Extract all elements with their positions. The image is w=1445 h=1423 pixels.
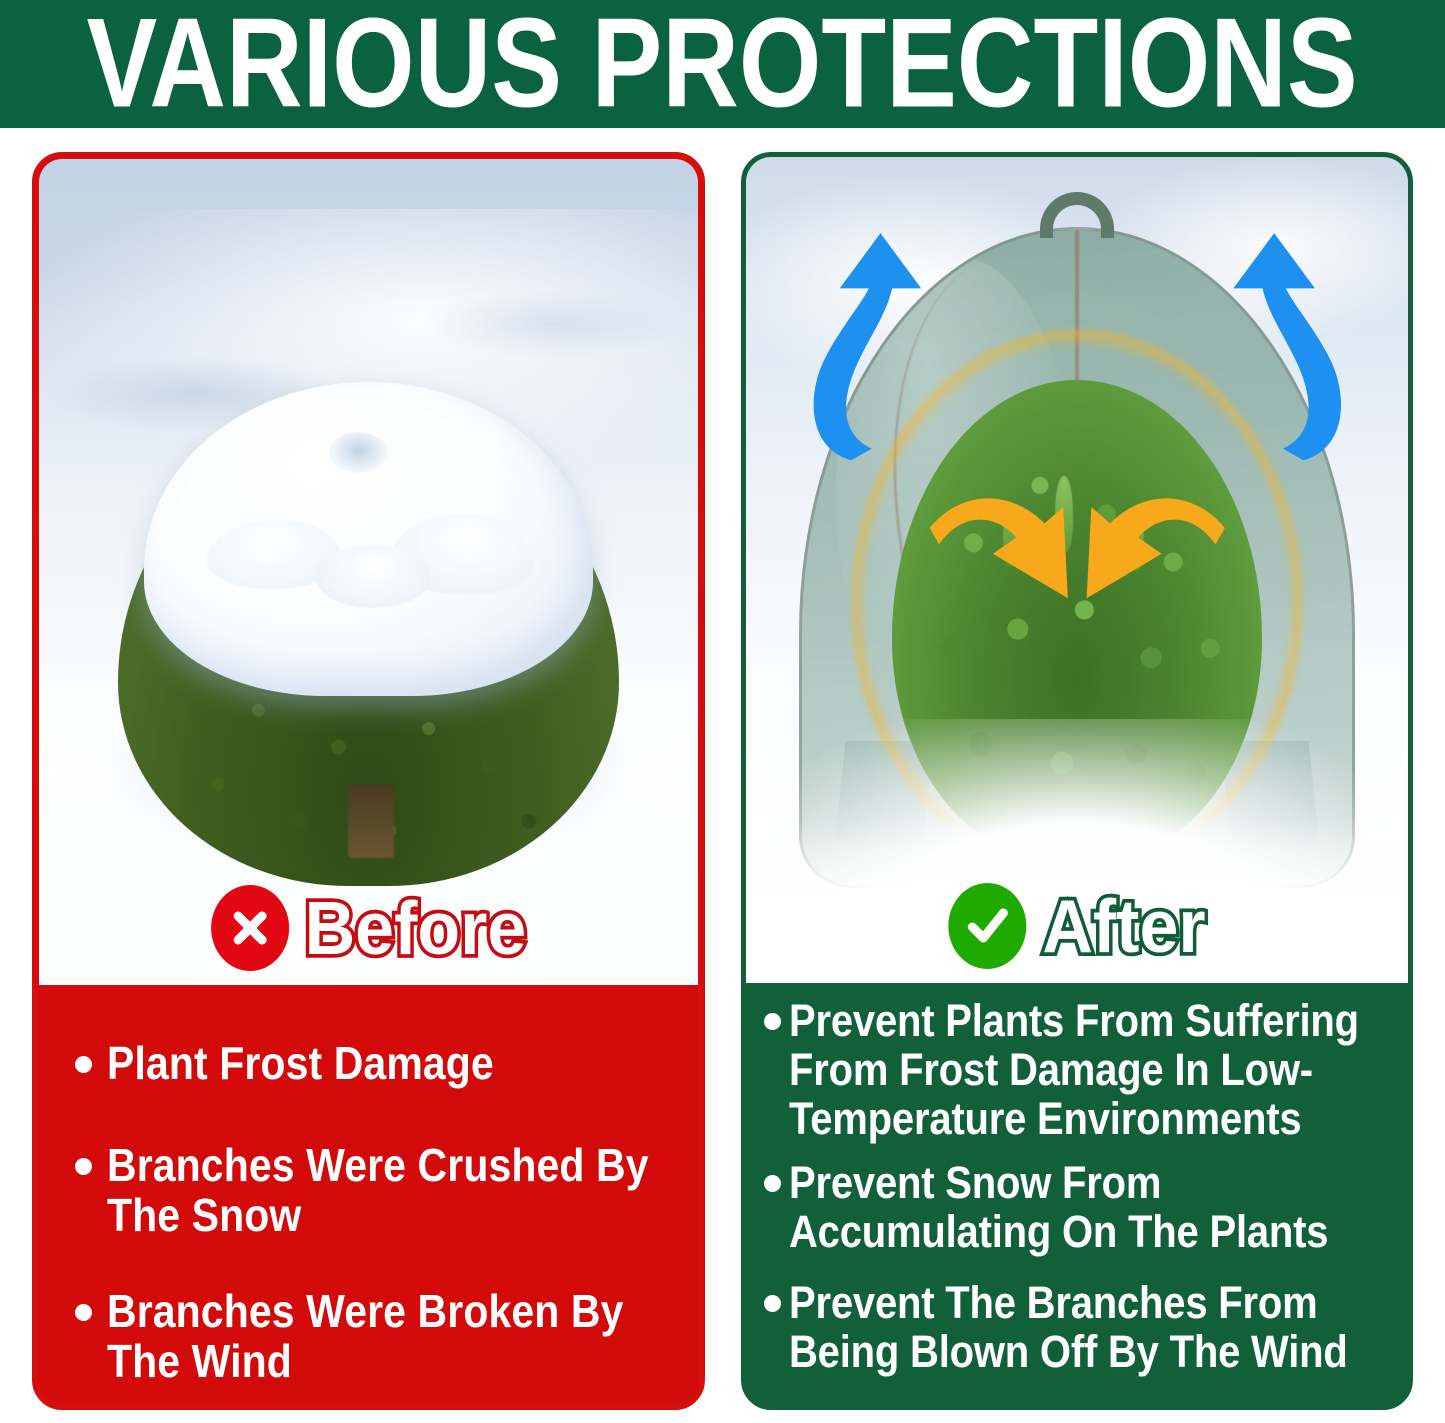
shrub-sprig (1055, 476, 1074, 553)
before-badge-label: Before (305, 890, 527, 966)
cross-circle-icon (211, 885, 289, 971)
list-item-label: Prevent The Branches From Being Blown Of… (789, 1279, 1394, 1377)
bullet-dot-icon (75, 1158, 92, 1175)
after-bullet-list: Prevent Plants From Suffering From Frost… (746, 983, 1408, 1410)
before-bullet-list: Plant Frost Damage Branches Were Crushed… (39, 985, 698, 1374)
bullet-dot-icon (75, 1304, 92, 1321)
after-photo: After (746, 157, 1408, 983)
list-item-label: Prevent Snow From Accumulating On The Pl… (789, 1159, 1394, 1257)
after-badge-label: After (1042, 888, 1205, 964)
list-item-label: Prevent Plants From Suffering From Frost… (789, 997, 1394, 1143)
list-item: Prevent Plants From Suffering From Frost… (764, 997, 1394, 1125)
bullet-dot-icon (764, 1013, 781, 1030)
bush-trunk (348, 784, 393, 858)
snow-background (39, 159, 698, 985)
infographic-page: VARIOUS PROTECTIONS (0, 0, 1445, 1423)
before-photo: Before (39, 159, 698, 985)
bullet-dot-icon (764, 1175, 781, 1192)
snow-dimple (329, 432, 388, 473)
shrub-sprig (1003, 505, 1018, 567)
list-item: Branches Were Crushed By The Snow (75, 1141, 672, 1229)
list-item: Prevent Snow From Accumulating On The Pl… (764, 1159, 1394, 1245)
list-item: Plant Frost Damage (75, 1039, 672, 1083)
bullet-dot-icon (75, 1056, 92, 1073)
header-banner: VARIOUS PROTECTIONS (0, 0, 1445, 128)
list-item: Prevent The Branches From Being Blown Of… (764, 1279, 1394, 1365)
before-badge: Before (211, 885, 527, 971)
snow-background (746, 157, 1408, 983)
snow-shadow (421, 291, 685, 357)
page-title: VARIOUS PROTECTIONS (87, 1, 1358, 128)
list-item-label: Breathable (789, 1399, 1394, 1410)
list-item-label: Branches Were Broken By The Wind (107, 1287, 672, 1387)
list-item: Breathable (764, 1399, 1394, 1410)
shrub-sprig (1129, 514, 1144, 571)
list-item-label: Branches Were Crushed By The Snow (107, 1141, 672, 1241)
list-item-label: Plant Frost Damage (107, 1039, 672, 1089)
after-badge: After (948, 883, 1205, 969)
after-panel: After Prevent Plants From Suffering From… (741, 152, 1413, 1410)
bullet-dot-icon (764, 1295, 781, 1312)
snow-lobe (315, 545, 432, 608)
check-circle-icon (948, 883, 1026, 969)
list-item: Branches Were Broken By The Wind (75, 1287, 672, 1375)
before-panel: Before Plant Frost Damage Branches Were … (32, 152, 705, 1410)
